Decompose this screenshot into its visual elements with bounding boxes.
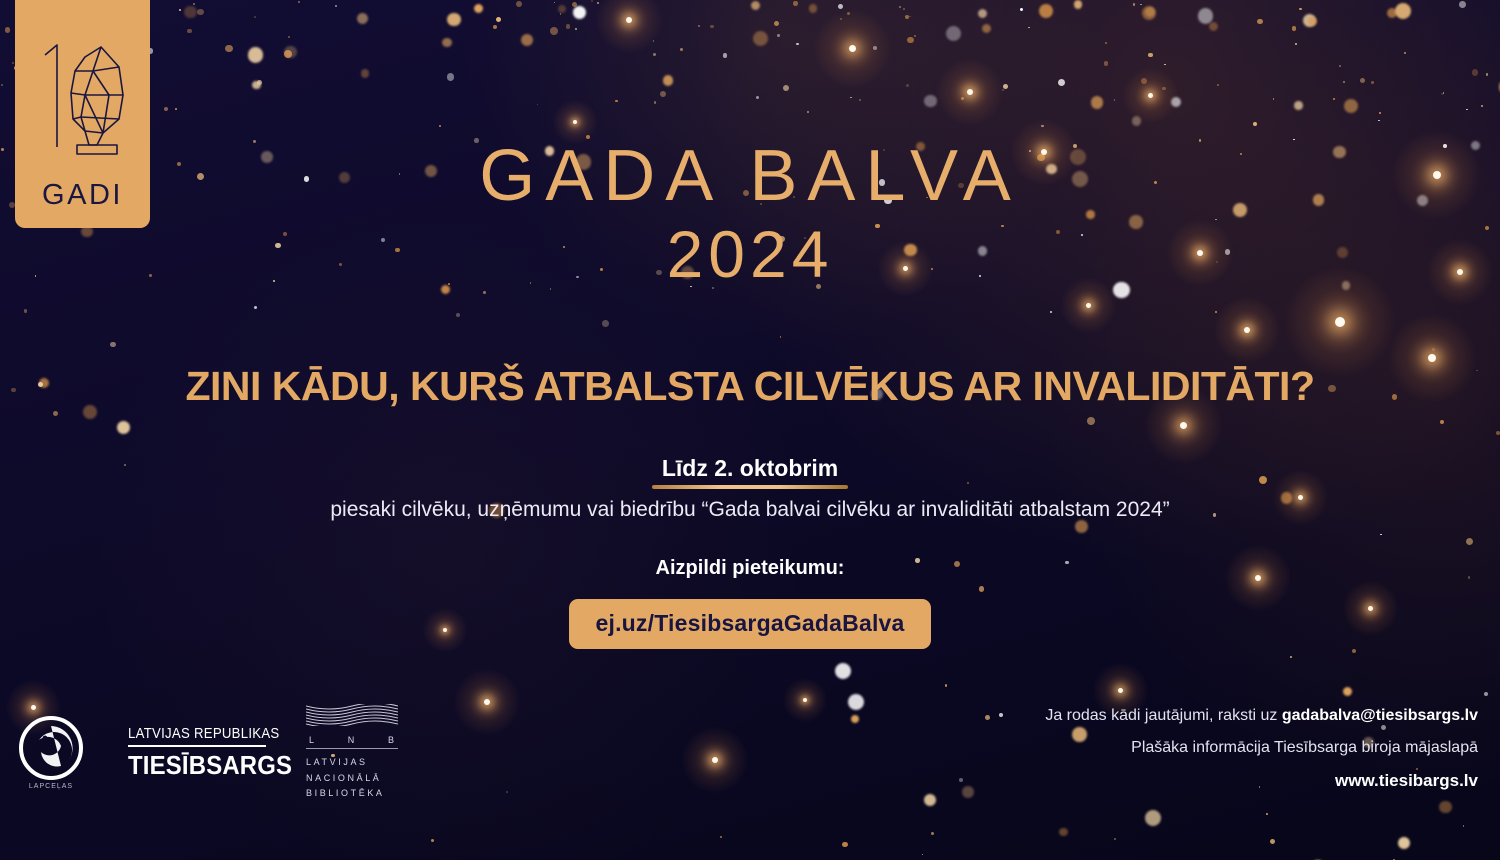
deadline-subline: piesaki cilvēku, uzņēmumu vai biedrību “… — [0, 498, 1500, 522]
logo-row: LAPCEĻAS LATVIJAS REPUBLIKAS TIESĪBSARGS — [12, 704, 398, 802]
circular-bird-emblem-icon: LAPCEĻAS — [12, 712, 90, 794]
lnb-rule — [306, 748, 398, 749]
tiesibsargs-logo-top: LATVIJAS REPUBLIKAS — [128, 725, 251, 742]
lnb-line-3: BIBLIOTĒKA — [306, 786, 398, 802]
lnb-abbr-n: N — [348, 735, 356, 745]
poster-canvas: GADI GADA BALVA 2024 ZINI KĀDU, KURŠ ATB… — [0, 0, 1500, 860]
application-link-button[interactable]: ej.uz/TiesibsargaGadaBalva — [569, 599, 930, 649]
headline-question: ZINI KĀDU, KURŠ ATBALSTA CILVĒKUS AR INV… — [0, 363, 1500, 410]
lnb-abbr-b: B — [388, 735, 395, 745]
tiesibsargs-logo-rule — [128, 745, 266, 747]
deadline-underline — [652, 485, 848, 489]
contact-website[interactable]: www.tiesibargs.lv — [1045, 764, 1478, 798]
lnb-logo: L N B LATVIJAS NACIONĀLĀ BIBLIOTĒKA — [306, 704, 398, 802]
contact-email-line: Ja rodas kādi jautājumi, raksti uz gadab… — [1045, 700, 1478, 732]
contact-block: Ja rodas kādi jautājumi, raksti uz gadab… — [1045, 700, 1478, 798]
page-title: GADA BALVA — [0, 140, 1500, 213]
lnb-abbreviation: L N B — [306, 731, 398, 748]
deadline-block: Līdz 2. oktobrim — [0, 455, 1500, 489]
tiesibsargs-logo: LATVIJAS REPUBLIKAS TIESĪBSARGS — [128, 725, 268, 781]
contact-info-line: Plašāka informācija Tiesībsarga biroja m… — [1045, 732, 1478, 764]
title-year: 2024 — [0, 213, 1500, 296]
lnb-full-name: LATVIJAS NACIONĀLĀ BIBLIOTĒKA — [306, 755, 398, 802]
tiesibsargs-logo-main: TIESĪBSARGS — [128, 750, 257, 781]
deadline-label: Līdz 2. oktobrim — [662, 455, 838, 481]
contact-email-prefix: Ja rodas kādi jautājumi, raksti uz — [1045, 707, 1282, 724]
lnb-line-1: LATVIJAS — [306, 755, 398, 771]
contact-email-address[interactable]: gadabalva@tiesibsargs.lv — [1282, 707, 1478, 724]
deadline-text: Līdz 2. oktobrim — [662, 455, 838, 489]
cta-block: ej.uz/TiesibsargaGadaBalva — [0, 599, 1500, 649]
cta-label: Aizpildi pieteikumu: — [0, 557, 1500, 580]
lnb-abbr-l: L — [309, 735, 315, 745]
lnb-waves-icon — [306, 704, 398, 726]
title-block: GADA BALVA 2024 — [0, 140, 1500, 296]
svg-text:LAPCEĻAS: LAPCEĻAS — [29, 783, 73, 790]
lnb-line-2: NACIONĀLĀ — [306, 771, 398, 787]
